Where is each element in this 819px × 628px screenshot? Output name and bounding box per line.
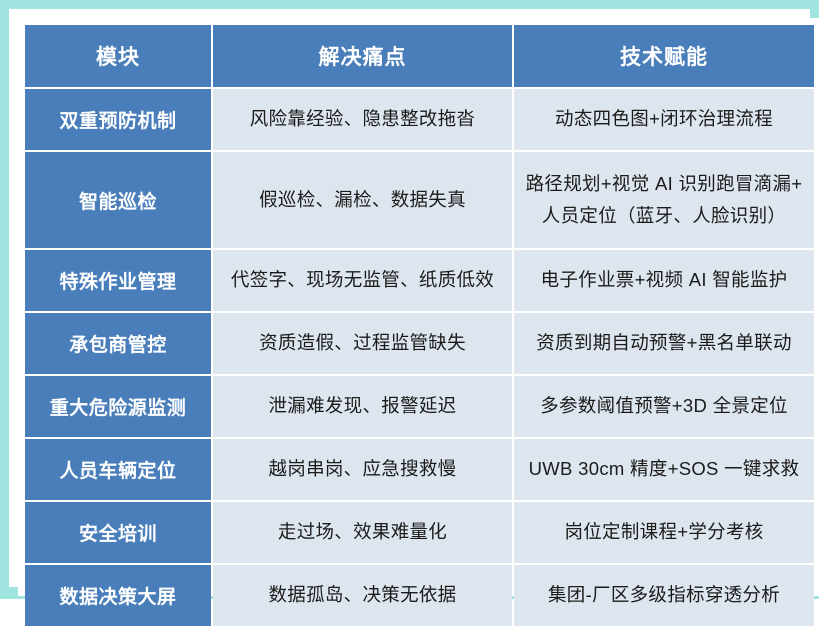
technology-line: 路径规划+视觉 AI 识别跑冒滴漏+ (520, 168, 808, 200)
capability-matrix-table: 模块 解决痛点 技术赋能 双重预防机制风险靠经验、隐患整改拖沓动态四色图+闭环治… (23, 23, 816, 628)
technology-cell: 多参数阈值预警+3D 全景定位 (514, 376, 814, 437)
technology-line: 动态四色图+闭环治理流程 (520, 103, 808, 135)
module-name-cell: 双重预防机制 (25, 89, 211, 150)
table-row: 承包商管控资质造假、过程监管缺失资质到期自动预警+黑名单联动 (25, 313, 814, 374)
pain-point-cell: 数据孤岛、决策无依据 (213, 565, 512, 626)
technology-cell: UWB 30cm 精度+SOS 一键求救 (514, 439, 814, 500)
table-body: 双重预防机制风险靠经验、隐患整改拖沓动态四色图+闭环治理流程智能巡检假巡检、漏检… (25, 89, 814, 626)
pain-point-cell: 代签字、现场无监管、纸质低效 (213, 250, 512, 311)
technology-line: 电子作业票+视频 AI 智能监护 (520, 264, 808, 296)
module-name-cell: 安全培训 (25, 502, 211, 563)
column-header-pain-point: 解决痛点 (213, 25, 512, 87)
table-header: 模块 解决痛点 技术赋能 (25, 25, 814, 87)
table-container: 模块 解决痛点 技术赋能 双重预防机制风险靠经验、隐患整改拖沓动态四色图+闭环治… (18, 18, 819, 596)
outer-frame: 模块 解决痛点 技术赋能 双重预防机制风险靠经验、隐患整改拖沓动态四色图+闭环治… (0, 0, 819, 599)
technology-line: 集团-厂区多级指标穿透分析 (520, 579, 808, 611)
pain-point-cell: 假巡检、漏检、数据失真 (213, 152, 512, 248)
table-row: 数据决策大屏数据孤岛、决策无依据集团-厂区多级指标穿透分析 (25, 565, 814, 626)
pain-point-cell: 泄漏难发现、报警延迟 (213, 376, 512, 437)
table-row: 特殊作业管理代签字、现场无监管、纸质低效电子作业票+视频 AI 智能监护 (25, 250, 814, 311)
pain-point-cell: 越岗串岗、应急搜救慢 (213, 439, 512, 500)
module-name-cell: 人员车辆定位 (25, 439, 211, 500)
technology-line: 多参数阈值预警+3D 全景定位 (520, 390, 808, 422)
technology-line: 人员定位（蓝牙、人脸识别） (520, 200, 808, 232)
technology-cell: 动态四色图+闭环治理流程 (514, 89, 814, 150)
module-name-cell: 智能巡检 (25, 152, 211, 248)
technology-line: 岗位定制课程+学分考核 (520, 516, 808, 548)
pain-point-cell: 资质造假、过程监管缺失 (213, 313, 512, 374)
technology-cell: 电子作业票+视频 AI 智能监护 (514, 250, 814, 311)
column-header-module: 模块 (25, 25, 211, 87)
technology-cell: 资质到期自动预警+黑名单联动 (514, 313, 814, 374)
table-row: 重大危险源监测泄漏难发现、报警延迟多参数阈值预警+3D 全景定位 (25, 376, 814, 437)
header-row: 模块 解决痛点 技术赋能 (25, 25, 814, 87)
table-row: 安全培训走过场、效果难量化岗位定制课程+学分考核 (25, 502, 814, 563)
column-header-technology: 技术赋能 (514, 25, 814, 87)
technology-line: UWB 30cm 精度+SOS 一键求救 (520, 453, 808, 485)
technology-cell: 岗位定制课程+学分考核 (514, 502, 814, 563)
table-row: 双重预防机制风险靠经验、隐患整改拖沓动态四色图+闭环治理流程 (25, 89, 814, 150)
table-row: 人员车辆定位越岗串岗、应急搜救慢UWB 30cm 精度+SOS 一键求救 (25, 439, 814, 500)
module-name-cell: 重大危险源监测 (25, 376, 211, 437)
technology-cell: 路径规划+视觉 AI 识别跑冒滴漏+人员定位（蓝牙、人脸识别） (514, 152, 814, 248)
module-name-cell: 数据决策大屏 (25, 565, 211, 626)
pain-point-cell: 走过场、效果难量化 (213, 502, 512, 563)
table-row: 智能巡检假巡检、漏检、数据失真路径规划+视觉 AI 识别跑冒滴漏+人员定位（蓝牙… (25, 152, 814, 248)
module-name-cell: 承包商管控 (25, 313, 211, 374)
technology-cell: 集团-厂区多级指标穿透分析 (514, 565, 814, 626)
module-name-cell: 特殊作业管理 (25, 250, 211, 311)
technology-line: 资质到期自动预警+黑名单联动 (520, 327, 808, 359)
pain-point-cell: 风险靠经验、隐患整改拖沓 (213, 89, 512, 150)
